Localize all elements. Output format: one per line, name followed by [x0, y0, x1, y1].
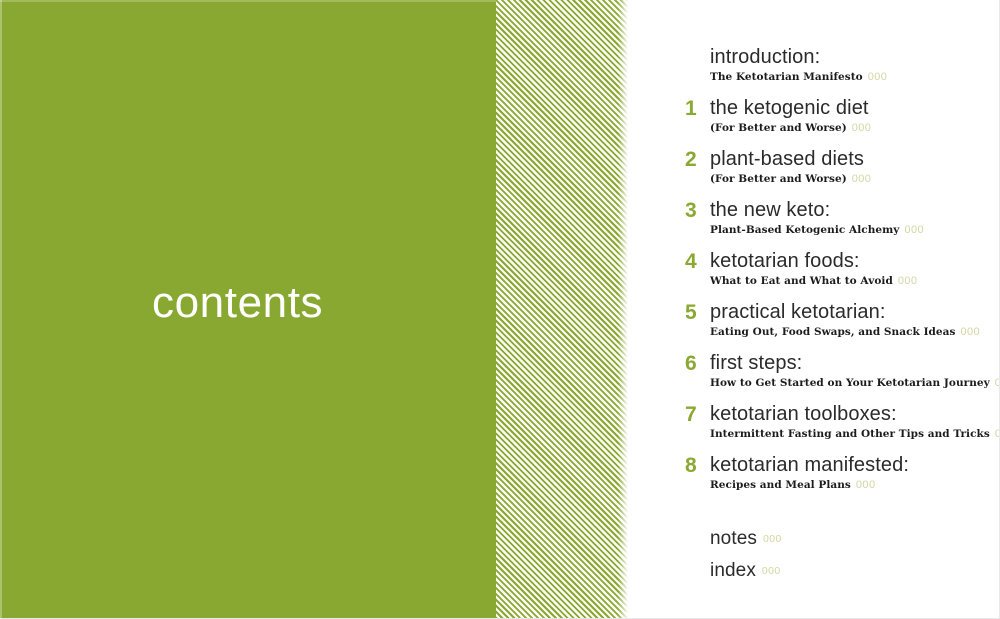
toc-entry-page-number: 000	[904, 224, 924, 236]
toc-entry-title-row: index000	[710, 558, 1000, 586]
toc-entry-page-number: 000	[868, 71, 888, 83]
toc-entry-title: index	[710, 560, 756, 581]
toc-entry-title: practical ketotarian:	[710, 301, 1000, 324]
toc-entry-subtitle: (For Better and Worse)	[710, 122, 847, 134]
toc-entry-chapter-6[interactable]: 6 first steps: How to Get Started on You…	[710, 352, 1000, 390]
left-green-panel: contents	[0, 0, 496, 619]
toc-chapter-number: 7	[685, 404, 705, 426]
table-of-contents: introduction: The Ketotarian Manifesto00…	[628, 0, 1000, 619]
toc-entry-subtitle-row: The Ketotarian Manifesto000	[710, 70, 1000, 84]
page-title: contents	[152, 281, 323, 325]
toc-entry-chapter-5[interactable]: 5 practical ketotarian: Eating Out, Food…	[710, 301, 1000, 339]
toc-entry-subtitle: Recipes and Meal Plans	[710, 479, 851, 491]
toc-entry-title: plant-based diets	[710, 148, 1000, 171]
toc-chapter-number: 5	[685, 302, 705, 324]
toc-entry-page-number: 000	[960, 326, 980, 338]
toc-entry-subtitle: The Ketotarian Manifesto	[710, 71, 863, 83]
table-of-contents-list: introduction: The Ketotarian Manifesto00…	[710, 46, 1000, 590]
toc-entry-page-number: 000	[763, 533, 782, 545]
toc-entry-title: introduction:	[710, 46, 1000, 69]
toc-chapter-number: 3	[685, 200, 705, 222]
toc-entry-chapter-1[interactable]: 1 the ketogenic diet (For Better and Wor…	[710, 97, 1000, 135]
toc-chapter-number: 4	[685, 251, 705, 273]
toc-entry-subtitle: What to Eat and What to Avoid	[710, 275, 893, 287]
toc-entry-page-number: 000	[856, 479, 876, 491]
toc-entry-subtitle: Plant-Based Ketogenic Alchemy	[710, 224, 899, 236]
toc-entry-page-number: 000	[852, 122, 872, 134]
toc-entry-chapter-2[interactable]: 2 plant-based diets (For Better and Wors…	[710, 148, 1000, 186]
toc-chapter-number: 1	[685, 98, 705, 120]
toc-entry-notes[interactable]: notes000	[710, 526, 1000, 554]
stripe-band-fade	[618, 0, 628, 619]
toc-entry-chapter-3[interactable]: 3 the new keto: Plant-Based Ketogenic Al…	[710, 199, 1000, 237]
toc-entry-subtitle: Intermittent Fasting and Other Tips and …	[710, 428, 990, 440]
toc-entry-page-number: 000	[995, 377, 1000, 389]
toc-entry-subtitle-row: Intermittent Fasting and Other Tips and …	[710, 427, 1000, 441]
toc-entry-subtitle-row: Eating Out, Food Swaps, and Snack Ideas0…	[710, 325, 1000, 339]
toc-entry-title: the new keto:	[710, 199, 1000, 222]
book-contents-page: contents introduction: The Ketotarian Ma…	[0, 0, 1000, 619]
toc-entry-chapter-8[interactable]: 8 ketotarian manifested: Recipes and Mea…	[710, 454, 1000, 492]
toc-entry-page-number: 000	[995, 428, 1000, 440]
toc-back-matter: notes000 index000	[710, 526, 1000, 586]
toc-chapter-number: 2	[685, 149, 705, 171]
toc-entry-subtitle-row: What to Eat and What to Avoid000	[710, 274, 1000, 288]
diagonal-stripe-band	[496, 0, 628, 619]
toc-entry-page-number: 000	[898, 275, 918, 287]
toc-entry-subtitle: (For Better and Worse)	[710, 173, 847, 185]
toc-entry-title: ketotarian foods:	[710, 250, 1000, 273]
toc-entry-title: ketotarian toolboxes:	[710, 403, 1000, 426]
toc-entry-chapter-7[interactable]: 7 ketotarian toolboxes: Intermittent Fas…	[710, 403, 1000, 441]
toc-entry-subtitle: How to Get Started on Your Ketotarian Jo…	[710, 377, 990, 389]
toc-entry-subtitle-row: (For Better and Worse)000	[710, 172, 1000, 186]
toc-entry-subtitle-row: How to Get Started on Your Ketotarian Jo…	[710, 376, 1000, 390]
toc-entry-subtitle-row: Plant-Based Ketogenic Alchemy000	[710, 223, 1000, 237]
toc-entry-title: the ketogenic diet	[710, 97, 1000, 120]
toc-chapter-number: 6	[685, 353, 705, 375]
toc-entry-index[interactable]: index000	[710, 558, 1000, 586]
toc-entry-page-number: 000	[852, 173, 872, 185]
toc-entry-subtitle-row: (For Better and Worse)000	[710, 121, 1000, 135]
toc-entry-page-number: 000	[762, 565, 781, 577]
toc-entry-subtitle-row: Recipes and Meal Plans000	[710, 478, 1000, 492]
toc-chapter-number: 8	[685, 455, 705, 477]
toc-entry-title: ketotarian manifested:	[710, 454, 1000, 477]
toc-entry-title: notes	[710, 528, 757, 549]
toc-entry-chapter-4[interactable]: 4 ketotarian foods: What to Eat and What…	[710, 250, 1000, 288]
toc-entry-introduction[interactable]: introduction: The Ketotarian Manifesto00…	[710, 46, 1000, 84]
toc-entry-subtitle: Eating Out, Food Swaps, and Snack Ideas	[710, 326, 955, 338]
toc-entry-title-row: notes000	[710, 526, 1000, 554]
toc-entry-title: first steps:	[710, 352, 1000, 375]
